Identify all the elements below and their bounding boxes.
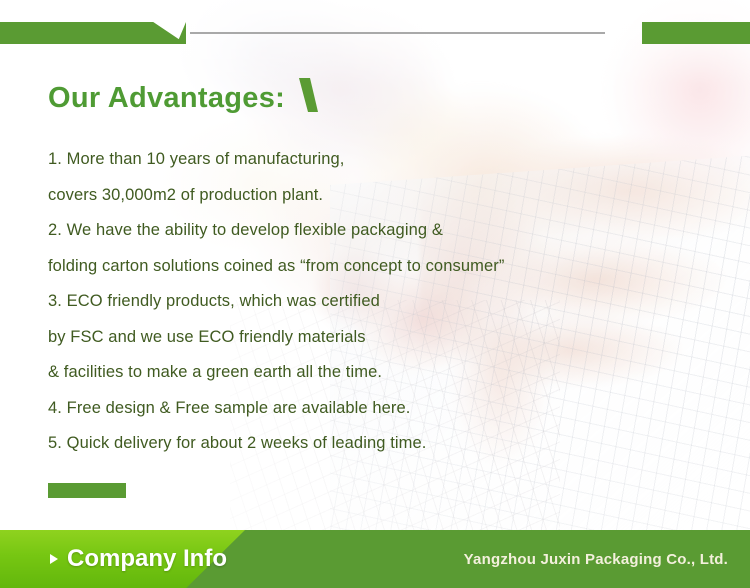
advantages-list: 1. More than 10 years of manufacturing, … <box>48 142 708 462</box>
advantage-line: folding carton solutions coined as “from… <box>48 249 708 285</box>
header-deco-right-slash-icon <box>642 22 688 44</box>
advantage-line: covers 30,000m2 of production plant. <box>48 178 708 214</box>
header-divider-line <box>190 32 605 34</box>
company-name: Yangzhou Juxin Packaging Co., Ltd. <box>464 530 728 588</box>
advantage-line: 3. ECO friendly products, which was cert… <box>48 284 708 320</box>
advantage-line: 2. We have the ability to develop flexib… <box>48 213 708 249</box>
advantage-line: 4. Free design & Free sample are availab… <box>48 391 708 427</box>
advantage-line: & facilities to make a green earth all t… <box>48 355 708 391</box>
advantages-banner: Our Advantages: 1. More than 10 years of… <box>0 0 750 588</box>
chevron-right-icon <box>50 554 58 564</box>
advantage-line: 5. Quick delivery for about 2 weeks of l… <box>48 426 708 462</box>
page-title: Our Advantages: <box>48 82 285 115</box>
advantage-line: by FSC and we use ECO friendly materials <box>48 320 708 356</box>
accent-bar <box>48 483 126 498</box>
header-deco-left-bar <box>0 22 144 44</box>
footer-bar: Company Info Yangzhou Juxin Packaging Co… <box>0 530 750 588</box>
advantage-line: 1. More than 10 years of manufacturing, <box>48 142 708 178</box>
heading-slash-icon <box>296 78 318 112</box>
header-deco-right-bar <box>688 22 750 44</box>
company-info-label: Company Info <box>67 545 227 573</box>
company-info-tab-label-group[interactable]: Company Info <box>50 530 227 588</box>
